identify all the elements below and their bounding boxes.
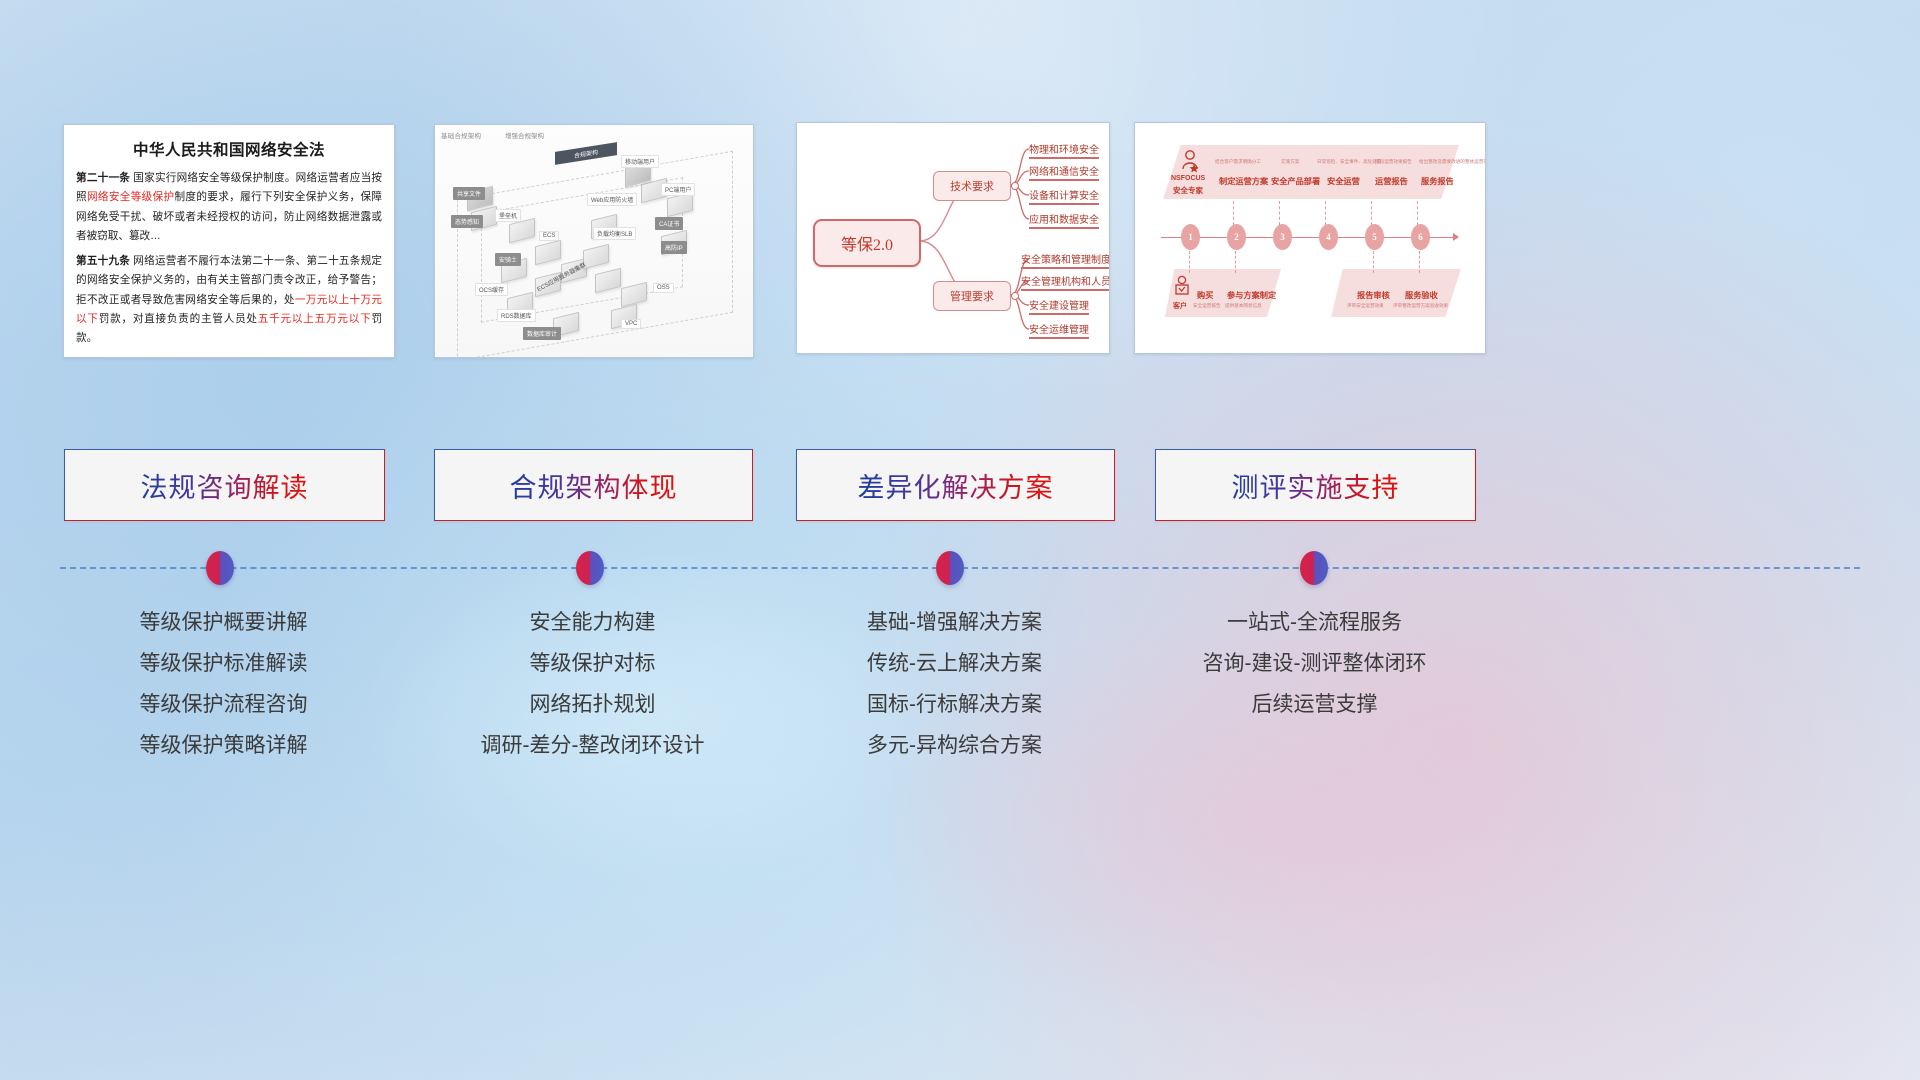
column-item: 网络拓扑规划 [434, 694, 751, 715]
arch-label: OCS缓存 [475, 283, 508, 296]
law-text-run: 第二十一条 [76, 172, 133, 184]
arch-label: 数据库审计 [523, 327, 561, 340]
mindmap-leaf: 安全建设管理 [1029, 297, 1089, 315]
column-regulation-consulting: 等级保护概要讲解 等级保护标准解读 等级保护流程咨询 等级保护策略详解 [64, 612, 383, 756]
customer-person-icon [1173, 275, 1191, 299]
customer-step-sub: 提供基本网状信息 [1225, 303, 1262, 309]
mindmap-leaf: 应用和数据安全 [1029, 211, 1099, 229]
column-item: 安全能力构建 [434, 612, 751, 633]
roadmap-step-sub: 实施方案 [1281, 159, 1299, 165]
expert-person-icon [1179, 149, 1201, 175]
column-item: 咨询-建设-测评整体闭环 [1147, 653, 1482, 674]
arch-label: 安骑士 [495, 253, 521, 266]
roadmap-step-main: 运营报告 [1375, 175, 1408, 187]
title-box-label: 法规咨询解读 [141, 466, 309, 505]
column-item: 等级保护概要讲解 [64, 612, 383, 633]
roadmap-connector [1325, 201, 1327, 225]
roadmap-step-sub: 日常巡检、安全事件、高危处置 [1317, 159, 1381, 165]
card-dengbao-mindmap: 等保2.0 技术要求 管理要求 物理和环境安全 网络和通信安全 设备和计算安全 … [796, 122, 1110, 354]
roadmap-connector [1419, 251, 1421, 273]
roadmap-connector [1279, 201, 1281, 225]
arch-tab-enhanced: 增强合规架构 [505, 130, 544, 140]
column-compliance-architecture: 安全能力构建 等级保护对标 网络拓扑规划 调研-差分-整改闭环设计 [434, 612, 751, 756]
law-paragraph-2: 第五十九条 网络运营者不履行本法第二十一条、第二十五条规定的网络安全保护义务的，… [76, 252, 382, 348]
law-text-run: 网络安全等级保护 [87, 191, 175, 203]
card-compliance-architecture: 基础合规架构 增强合规架构 合规架构 共享文件 态势感知 堡垒机 ECS 安骑士… [434, 124, 754, 358]
roadmap-node: 2 [1227, 224, 1246, 250]
mindmap-node-dot [1011, 182, 1019, 190]
arch-label: RDS数据库 [497, 309, 536, 322]
arch-label: 移动端用户 [621, 155, 659, 168]
roadmap-node: 6 [1411, 224, 1430, 250]
law-text-run: 罚款，对直接负责的主管人员处 [99, 313, 258, 325]
law-title: 中华人民共和国网络安全法 [64, 138, 394, 160]
customer-step-main: 购买 [1197, 289, 1213, 301]
mindmap-leaf: 物理和环境安全 [1029, 141, 1099, 159]
roadmap-node: 3 [1273, 224, 1292, 250]
title-box-label: 测评实施支持 [1232, 466, 1400, 505]
arch-label: 态势感知 [451, 215, 483, 228]
law-text-run: 第五十九条 [76, 255, 133, 267]
column-item: 传统-云上解决方案 [796, 653, 1113, 674]
title-box-compliance-architecture[interactable]: 合规架构体现 [434, 449, 753, 521]
card-service-roadmap: NSFOCUS 安全专家 结合客户需求明确分工 制定运营方案 实施方案 安全产品… [1134, 122, 1486, 354]
column-item: 国标-行标解决方案 [796, 694, 1113, 715]
roadmap-connector [1417, 201, 1419, 225]
title-box-assessment-support[interactable]: 测评实施支持 [1155, 449, 1476, 521]
roadmap-step-main: 安全产品部署 [1271, 175, 1320, 187]
roadmap-step-main: 制定运营方案 [1219, 175, 1268, 187]
roadmap-step-main: 安全运营 [1327, 175, 1360, 187]
column-item: 等级保护流程咨询 [64, 694, 383, 715]
roadmap-node: 4 [1319, 224, 1338, 250]
column-item: 调研-差分-整改闭环设计 [434, 735, 751, 756]
mindmap-leaf: 安全管理机构和人员 [1021, 273, 1110, 291]
arch-label: CA证书 [655, 217, 683, 230]
arch-label: 堡垒机 [495, 209, 521, 222]
column-item: 基础-增强解决方案 [796, 612, 1113, 633]
title-box-regulation-consulting[interactable]: 法规咨询解读 [64, 449, 385, 521]
mindmap-leaf: 安全运维管理 [1029, 321, 1089, 339]
card-cybersecurity-law: 中华人民共和国网络安全法 第二十一条 国家实行网络安全等级保护制度。网络运营者应… [63, 124, 395, 358]
roadmap-step-sub: 给出整改及需要改进的整体运营效果 [1419, 159, 1486, 165]
column-item: 等级保护对标 [434, 653, 751, 674]
mindmap-leaf: 设备和计算安全 [1029, 187, 1099, 205]
roadmap-connector [1189, 251, 1191, 273]
law-text-run: 五千元以上五万元以下 [258, 313, 372, 325]
arch-label: Web应用防火墙 [587, 193, 637, 206]
customer-step-main: 参与方案制定 [1227, 289, 1276, 301]
column-item: 等级保护标准解读 [64, 653, 383, 674]
expert-label-2: 安全专家 [1173, 185, 1203, 196]
arch-banner: 合规架构 [555, 142, 617, 165]
timeline-dot[interactable] [576, 551, 604, 585]
mindmap-branch-management: 管理要求 [933, 281, 1011, 311]
roadmap-connector [1373, 251, 1375, 273]
roadmap-node: 1 [1181, 224, 1200, 250]
roadmap-band-customer-right [1331, 269, 1461, 317]
column-item: 等级保护策略详解 [64, 735, 383, 756]
arch-label: PC端用户 [661, 183, 695, 196]
arch-label: 共享文件 [453, 187, 485, 200]
customer-label: 客户 [1173, 301, 1187, 311]
timeline-dot[interactable] [206, 551, 234, 585]
timeline-dot[interactable] [1300, 551, 1328, 585]
mindmap-leaf: 网络和通信安全 [1029, 163, 1099, 181]
timeline-dot[interactable] [936, 551, 964, 585]
arch-label: OSS [653, 283, 674, 293]
column-assessment-support: 一站式-全流程服务 咨询-建设-测评整体闭环 后续运营支撑 [1147, 612, 1482, 715]
customer-step-main: 报告审核 [1357, 289, 1390, 301]
title-box-label: 合规架构体现 [510, 466, 678, 505]
customer-step-sub: 评审安全运营效果 [1347, 303, 1384, 309]
roadmap-band-expert [1163, 145, 1459, 199]
roadmap-arrow-icon [1453, 233, 1459, 241]
arch-label: ECS [539, 231, 559, 241]
mindmap-branch-technical: 技术要求 [933, 171, 1011, 201]
customer-step-sub: 安全运营报告 [1193, 303, 1221, 309]
mindmap-leaf: 安全策略和管理制度 [1021, 251, 1110, 269]
roadmap-step-sub: 结合客户需求明确分工 [1215, 159, 1261, 165]
column-item: 后续运营支撑 [1147, 694, 1482, 715]
mindmap-node-dot [1011, 292, 1019, 300]
arch-tab-basic: 基础合规架构 [441, 130, 481, 140]
arch-label: 负载均衡SLB [593, 227, 636, 240]
mindmap-root: 等保2.0 [813, 219, 921, 267]
roadmap-connector [1233, 201, 1235, 225]
customer-step-main: 服务验收 [1405, 289, 1438, 301]
column-item: 多元-异构综合方案 [796, 735, 1113, 756]
roadmap-connector [1371, 201, 1373, 225]
roadmap-node: 5 [1365, 224, 1384, 250]
arch-label: VPC [621, 319, 641, 329]
column-item: 一站式-全流程服务 [1147, 612, 1482, 633]
title-box-label: 差异化解决方案 [858, 466, 1054, 505]
law-paragraph-1: 第二十一条 国家实行网络安全等级保护制度。网络运营者应当按照网络安全等级保护制度… [76, 169, 382, 246]
expert-label-1: NSFOCUS [1171, 175, 1205, 182]
arch-label: 高防IP [661, 241, 687, 254]
roadmap-step-main: 服务报告 [1421, 175, 1454, 187]
roadmap-step-sub: 阶段运营效果报告 [1375, 159, 1412, 165]
law-body: 第二十一条 国家实行网络安全等级保护制度。网络运营者应当按照网络安全等级保护制度… [64, 169, 394, 348]
column-differentiated-solution: 基础-增强解决方案 传统-云上解决方案 国标-行标解决方案 多元-异构综合方案 [796, 612, 1113, 756]
title-box-differentiated-solution[interactable]: 差异化解决方案 [796, 449, 1115, 521]
roadmap-connector [1235, 251, 1237, 273]
architecture-diagram: 基础合规架构 增强合规架构 合规架构 共享文件 态势感知 堡垒机 ECS 安骑士… [435, 125, 753, 357]
customer-step-sub: 评审整改运营方案验收效果 [1393, 303, 1448, 309]
